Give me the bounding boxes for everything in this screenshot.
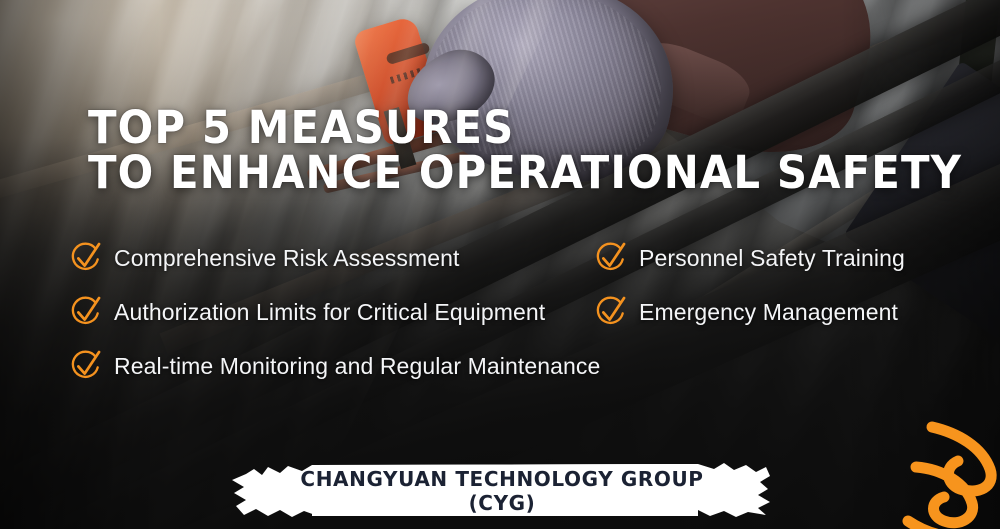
list-item-label: Personnel Safety Training [639,245,905,272]
company-name-line-1: CHANGYUAN TECHNOLOGY GROUP [300,467,703,491]
check-circle-icon [68,294,104,330]
banner-text-block: CHANGYUAN TECHNOLOGY GROUP (CYG) [228,458,776,522]
check-circle-icon [68,348,104,384]
list-item: Personnel Safety Training [593,238,948,278]
list-item-label: Emergency Management [639,299,898,326]
list-item: Comprehensive Risk Assessment [68,238,593,278]
orange-brush-scribble [886,417,1000,529]
check-circle-icon [593,240,629,276]
company-name-line-2: (CYG) [469,491,536,515]
page-title: TOP 5 MEASURES TO ENHANCE OPERATIONAL SA… [88,105,962,195]
list-item-label: Real-time Monitoring and Regular Mainten… [114,353,600,380]
measures-checklist: Comprehensive Risk Assessment Authorizat… [68,238,948,400]
poster-content: TOP 5 MEASURES TO ENHANCE OPERATIONAL SA… [0,0,1000,529]
checklist-column-left: Comprehensive Risk Assessment Authorizat… [68,238,593,400]
list-item-label: Authorization Limits for Critical Equipm… [114,299,545,326]
list-item: Authorization Limits for Critical Equipm… [68,292,593,332]
list-item: Emergency Management [593,292,948,332]
company-name-banner: CHANGYUAN TECHNOLOGY GROUP (CYG) [228,458,776,522]
check-circle-icon [68,240,104,276]
checklist-columns: Comprehensive Risk Assessment Authorizat… [68,238,948,400]
list-item-label: Comprehensive Risk Assessment [114,245,459,272]
list-item: Real-time Monitoring and Regular Mainten… [68,346,593,386]
headline-line-2: TO ENHANCE OPERATIONAL SAFETY [88,150,962,195]
check-circle-icon [593,294,629,330]
checklist-column-right: Personnel Safety Training Emergency Mana… [593,238,948,346]
poster-canvas: TOP 5 MEASURES TO ENHANCE OPERATIONAL SA… [0,0,1000,529]
